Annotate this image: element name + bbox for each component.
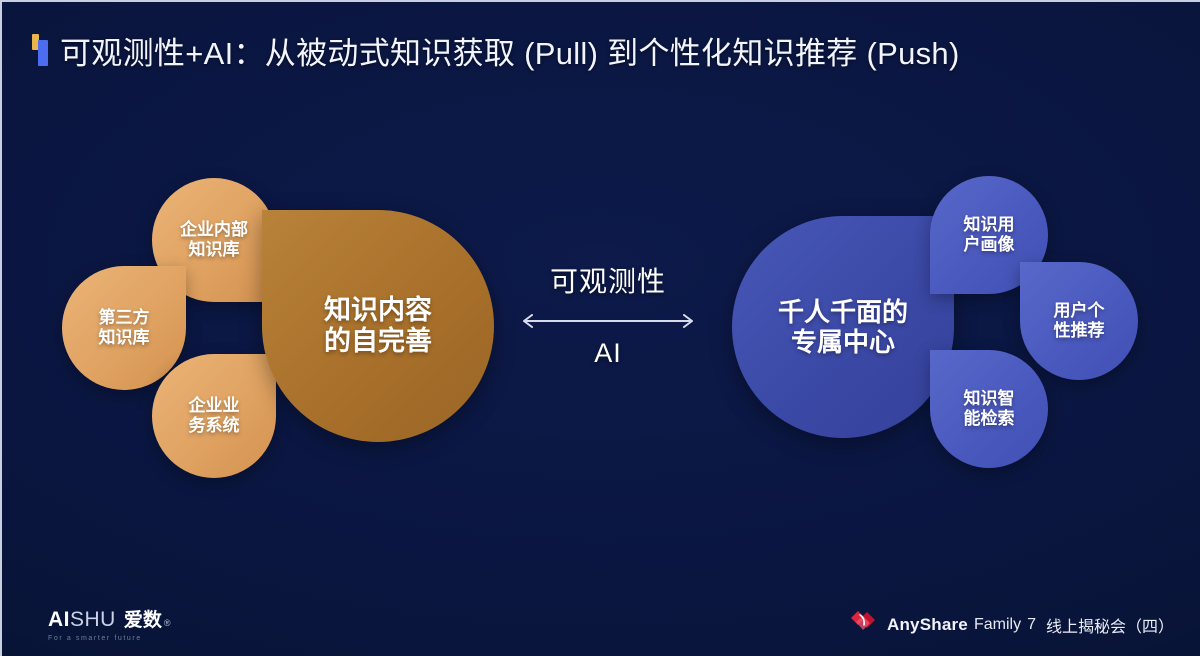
petal-label-line2: 务系统 bbox=[189, 416, 240, 435]
petal-label-line1: 企业业 bbox=[189, 396, 240, 415]
petal-label-line1: 第三方 bbox=[99, 308, 150, 327]
petal-intelligent-knowledge-search[interactable]: 知识智 能检索 bbox=[930, 350, 1048, 468]
petal-label-line2: 性推荐 bbox=[1054, 321, 1105, 340]
center-bottom-label: AI bbox=[508, 338, 708, 369]
slide-canvas: 可观测性+AI：从被动式知识获取 (Pull) 到个性化知识推荐 (Push) … bbox=[0, 0, 1200, 656]
title-text: 可观测性+AI：从被动式知识获取 (Pull) 到个性化知识推荐 (Push) bbox=[60, 28, 960, 73]
core-label-line1: 知识内容 bbox=[324, 295, 432, 325]
page-title: 可观测性+AI：从被动式知识获取 (Pull) 到个性化知识推荐 (Push) bbox=[30, 26, 960, 74]
petal-personalized-recommendation[interactable]: 用户个 性推荐 bbox=[1020, 262, 1138, 380]
anyshare-watermark: AnyShare Family 7 线上揭秘会（四） bbox=[848, 609, 1174, 640]
anyshare-version: 7 bbox=[1027, 616, 1036, 634]
petal-label-line1: 知识智 bbox=[964, 389, 1015, 408]
core-label-line2: 的自完善 bbox=[324, 326, 432, 356]
petal-third-party-kb[interactable]: 第三方 知识库 bbox=[62, 266, 186, 390]
petal-label-line2: 能检索 bbox=[964, 409, 1015, 428]
anyshare-event-label: 线上揭秘会（四） bbox=[1046, 613, 1174, 637]
logo-tagline: For a smarter future bbox=[48, 635, 142, 642]
left-cluster: 企业内部 知识库 第三方 知识库 企业业 务系统 知识内容 的自完善 bbox=[62, 152, 522, 462]
petal-label-line1: 知识用 bbox=[964, 215, 1015, 234]
center-top-label: 可观测性 bbox=[508, 260, 708, 300]
logo-chinese-text: 爱数 bbox=[124, 605, 162, 632]
double-headed-arrow-icon bbox=[508, 314, 708, 328]
petal-label-line2: 知识库 bbox=[189, 240, 240, 259]
petal-enterprise-business-system[interactable]: 企业业 务系统 bbox=[152, 354, 276, 478]
anyshare-product-name: AnyShare bbox=[887, 615, 968, 635]
anyshare-diamond-icon bbox=[848, 609, 878, 640]
logo-shu-text: SHU bbox=[70, 608, 116, 632]
petal-label-line1: 企业内部 bbox=[180, 220, 248, 239]
petal-label-line2: 户画像 bbox=[964, 235, 1015, 254]
right-cluster: 千人千面的 专属中心 知识用 户画像 用户个 性推荐 知识智 能检索 bbox=[732, 154, 1152, 464]
core-label-line1: 千人千面的 bbox=[778, 297, 908, 327]
aishu-logo: AI SHU 爱数 ® For a smarter future bbox=[48, 605, 171, 642]
registered-trademark-icon: ® bbox=[164, 618, 171, 628]
title-bullet-icon bbox=[30, 33, 52, 67]
left-cluster-core[interactable]: 知识内容 的自完善 bbox=[262, 210, 494, 442]
petal-label-line1: 用户个 bbox=[1054, 301, 1105, 320]
right-cluster-core[interactable]: 千人千面的 专属中心 bbox=[732, 216, 954, 438]
core-label-line2: 专属中心 bbox=[791, 327, 895, 357]
anyshare-family-label: Family bbox=[974, 616, 1021, 634]
center-link-block: 可观测性 AI bbox=[508, 260, 708, 369]
logo-ai-text: AI bbox=[48, 608, 70, 632]
petal-label-line2: 知识库 bbox=[99, 328, 150, 347]
